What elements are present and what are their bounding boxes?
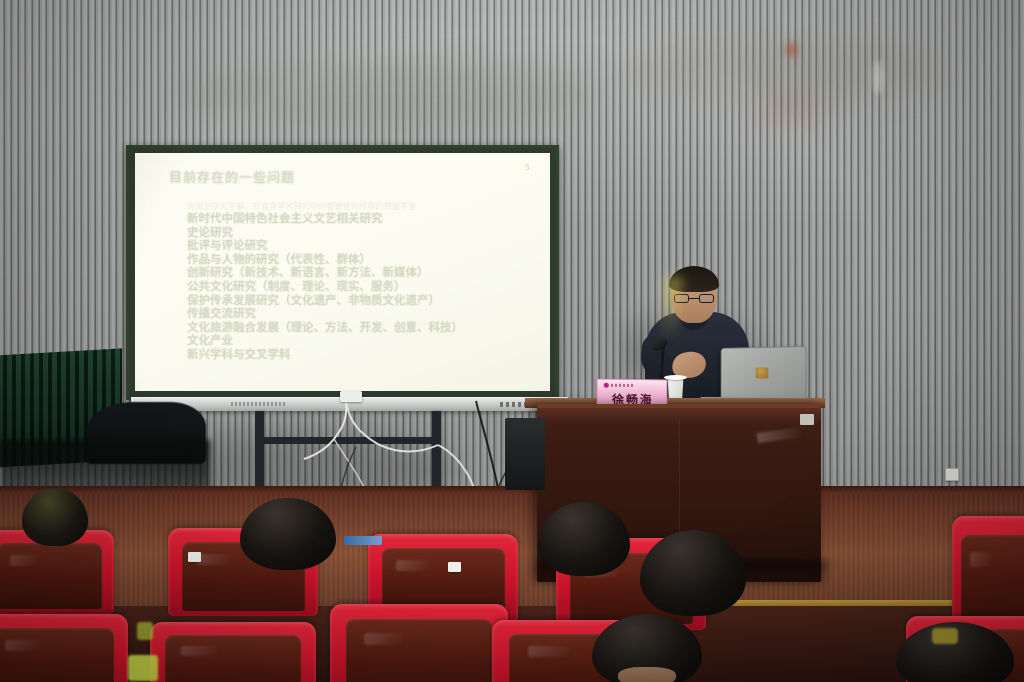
slide-line-faded: 对思想研究不够，对自身学术研究中的重要性和作用的把握不准 (187, 201, 536, 212)
podium-sheen (757, 427, 804, 443)
seat-back-panel (346, 619, 492, 682)
projection-screen: 5 目前存在的一些问题 对思想研究不够，对自身学术研究中的重要性和作用的把握不准… (126, 145, 559, 400)
seat (330, 604, 508, 682)
seat-back-panel (165, 635, 301, 682)
seat-back-panel (0, 543, 102, 609)
slide-line: 文化旅游融合发展（理论、方法、开发、创意、科技） (187, 321, 536, 335)
floor-highlight (128, 655, 158, 681)
slide-line: 传播交流研究 (187, 307, 536, 321)
seat (150, 622, 316, 682)
slide-line: 公共文化研究（制度、理论、现实、服务） (187, 280, 536, 294)
slide-line: 文化产业 (187, 334, 536, 348)
seat-number-label (188, 552, 201, 562)
floor-highlight (137, 622, 153, 640)
wall-socket-icon (945, 468, 959, 481)
logo-text-mark (611, 384, 633, 387)
slide-line: 新兴学科与交叉学科 (187, 348, 536, 362)
slide-line: 创新研究（新技术、新语言、新方法、新媒体） (187, 266, 536, 280)
slide-title: 目前存在的一些问题 (169, 167, 295, 186)
slide-surface: 5 目前存在的一些问题 对思想研究不够，对自身学术研究中的重要性和作用的把握不准… (135, 153, 550, 391)
slide-line: 批评与评论研究 (187, 239, 536, 253)
audience-head (22, 488, 88, 546)
laptop-lid[interactable] (721, 346, 807, 402)
slide-page-number: 5 (525, 163, 530, 172)
logo-dot-icon (604, 383, 609, 388)
podium-tag (800, 414, 814, 425)
seat-number-label (448, 562, 461, 572)
slide-body: 对思想研究不够，对自身学术研究中的重要性和作用的把握不准 新时代中国特色社会主义… (187, 201, 536, 362)
glasses-lens-right (699, 294, 714, 303)
placard-org-logo-icon (604, 383, 633, 388)
floor-highlight (932, 628, 958, 644)
equipment-cabinet (505, 418, 545, 490)
seat-back-panel (961, 535, 1024, 629)
slide-line: 新时代中国特色社会主义文艺相关研究 (187, 212, 536, 226)
lecture-hall-photo: 5 目前存在的一些问题 对思想研究不够，对自身学术研究中的重要性和作用的把握不准… (0, 0, 1024, 682)
audience-face (618, 667, 675, 682)
laptop-logo-icon (756, 367, 769, 378)
paper-cup-rim (664, 375, 687, 380)
equipment-led-strip (344, 536, 382, 545)
seat-back-panel (0, 628, 114, 682)
glasses-bridge (689, 298, 699, 299)
seat (0, 614, 128, 682)
